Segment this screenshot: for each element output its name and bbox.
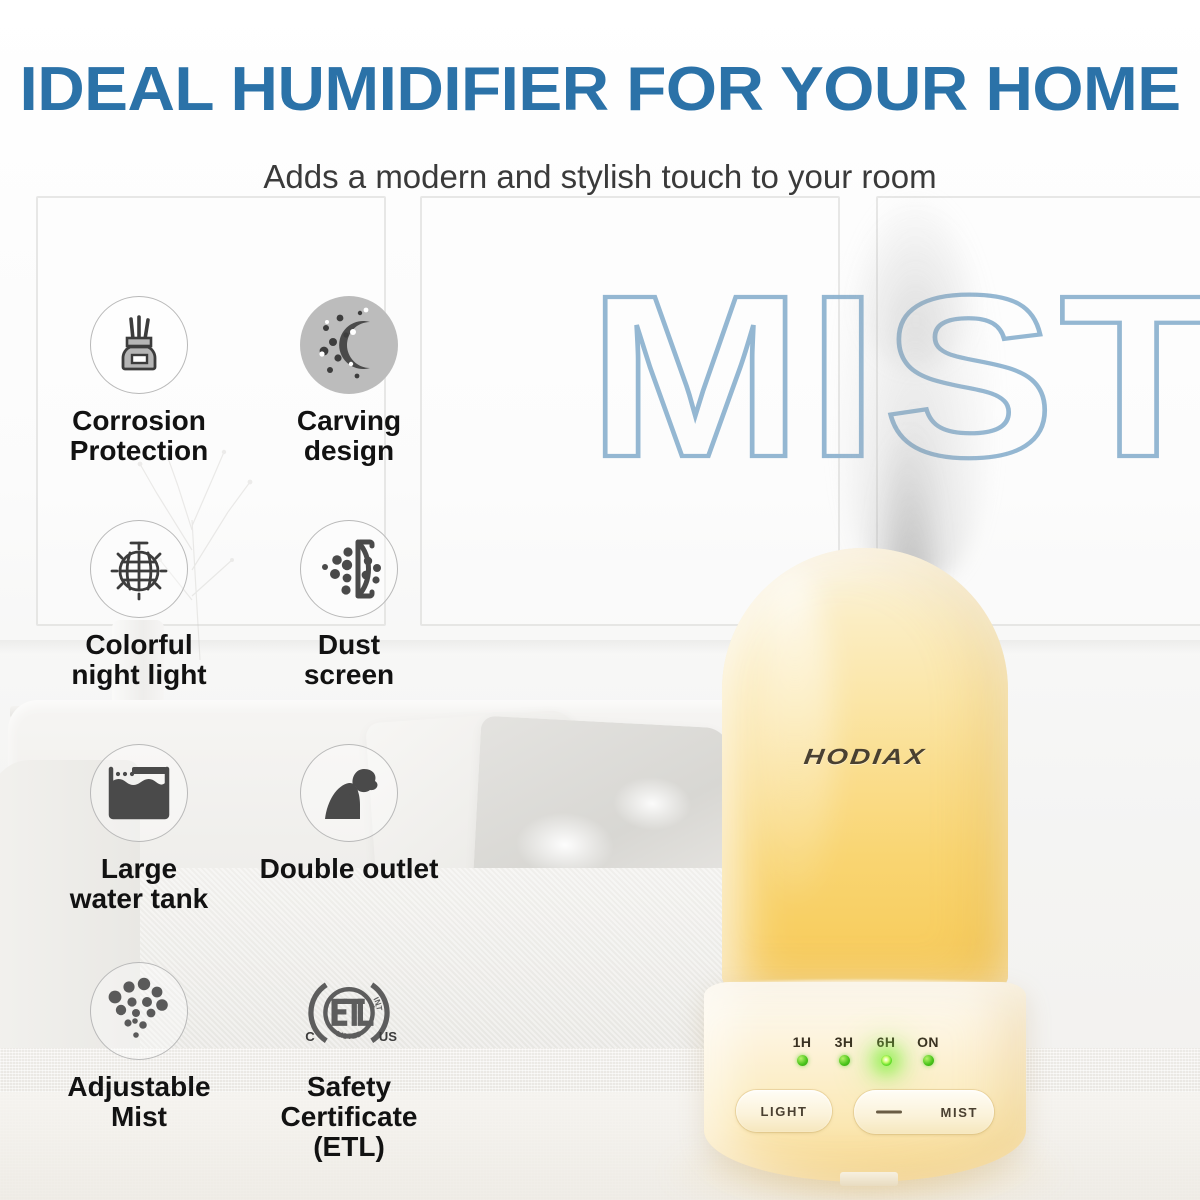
mist-dash-icon — [876, 1111, 902, 1114]
water-tank-icon — [90, 744, 188, 842]
feature-row: Corrosion Protection — [34, 296, 454, 514]
mist-dots-icon — [90, 962, 188, 1060]
feature-corrosion-protection[interactable]: Corrosion Protection — [34, 296, 244, 514]
feature-list: Corrosion Protection — [34, 296, 454, 1180]
page-title: IDEAL HUMIDIFIER FOR YOUR HOME — [0, 54, 1200, 125]
feature-large-water-tank[interactable]: Large water tank — [34, 744, 244, 956]
timer-label-1h: 1H — [790, 1034, 814, 1050]
feature-label: Dust screen — [304, 630, 394, 690]
feature-label: Corrosion Protection — [70, 406, 208, 466]
mist-button-label: MIST — [941, 1105, 978, 1120]
etl-badge-icon: INTERTEK LISTED C US TM — [300, 962, 398, 1060]
control-panel: 1H 3H 6H ON LIGHT MIST — [700, 1034, 1030, 1134]
feature-carving-design[interactable]: Carving design — [244, 296, 454, 514]
device-foot — [840, 1172, 898, 1186]
humidifier-product: HODIAX 1H 3H 6H ON LIGHT MIST — [700, 548, 1030, 1188]
feature-colorful-night-light[interactable]: Colorful night light — [34, 520, 244, 738]
feature-adjustable-mist[interactable]: Adjustable Mist — [34, 962, 244, 1174]
feature-label: Carving design — [297, 406, 401, 466]
moon-stars-icon — [300, 296, 398, 394]
feature-dust-screen[interactable]: Dust screen — [244, 520, 454, 738]
feature-row: Large water tank Double outlet — [34, 744, 454, 956]
etl-c-mark: C — [305, 1029, 315, 1044]
page-subtitle: Adds a modern and stylish touch to your … — [0, 158, 1200, 196]
button-row: LIGHT MIST — [700, 1090, 1030, 1134]
feature-row: Adjustable Mist — [34, 962, 454, 1174]
timer-label-on: ON — [916, 1034, 940, 1050]
feature-label: Safety Certificate (ETL) — [244, 1072, 454, 1163]
brand-logo: HODIAX — [657, 744, 1073, 770]
product-marketing-banner: MIST HODIAX 1H 3H 6H ON LIGHT — [0, 0, 1200, 1200]
etl-us-mark: US — [379, 1029, 397, 1044]
timer-label-row: 1H 3H 6H ON — [700, 1034, 1030, 1050]
svg-text:LISTED: LISTED — [335, 1029, 364, 1041]
feature-safety-certificate[interactable]: INTERTEK LISTED C US TM Safety Certifica… — [244, 962, 454, 1174]
led-3h — [839, 1055, 850, 1066]
feature-label: Large water tank — [70, 854, 209, 914]
feature-label: Double outlet — [260, 854, 439, 884]
feature-row: Colorful night light — [34, 520, 454, 738]
reed-diffuser-icon — [90, 296, 188, 394]
etl-tm-mark: TM — [369, 1004, 377, 1010]
mist-outline-word: MIST — [588, 262, 1200, 493]
led-1h — [797, 1055, 808, 1066]
led-6h-active — [881, 1055, 892, 1066]
feature-label: Colorful night light — [71, 630, 206, 690]
timer-label-6h: 6H — [874, 1034, 898, 1050]
timer-label-3h: 3H — [832, 1034, 856, 1050]
mist-outlet-icon — [300, 744, 398, 842]
disco-ball-icon — [90, 520, 188, 618]
led-on — [923, 1055, 934, 1066]
dust-filter-icon — [300, 520, 398, 618]
mist-button[interactable]: MIST — [854, 1090, 994, 1134]
light-button[interactable]: LIGHT — [736, 1090, 832, 1132]
feature-double-outlet[interactable]: Double outlet — [244, 744, 454, 956]
feature-label: Adjustable Mist — [67, 1072, 210, 1132]
led-indicator-row — [700, 1055, 1030, 1066]
etl-bottom-arc-text: LISTED — [335, 1029, 364, 1041]
